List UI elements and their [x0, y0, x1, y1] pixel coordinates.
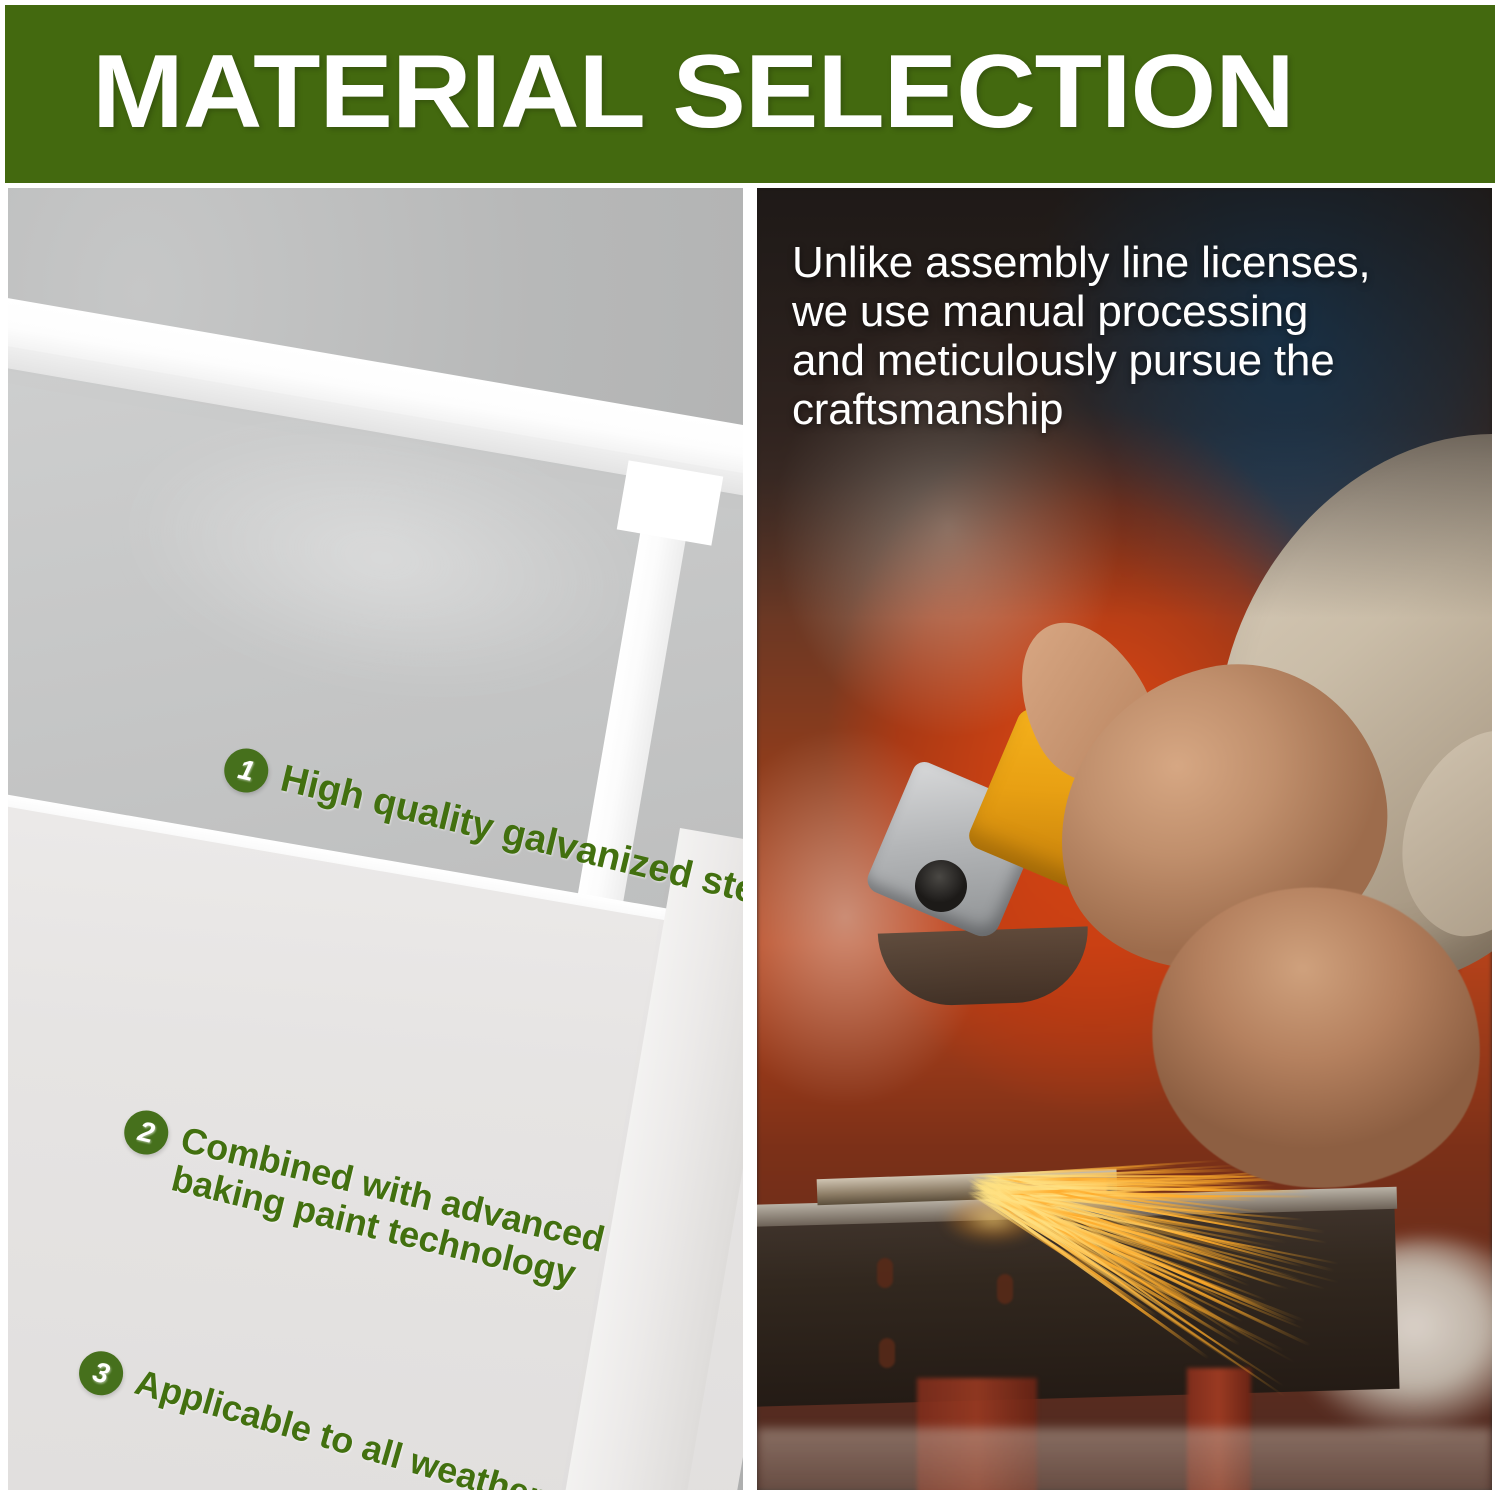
infographic-canvas: MATERIAL SELECTION 1 High quality galvan…: [0, 0, 1500, 1498]
caption-line-2: we use manual processing: [792, 287, 1392, 336]
feature-number-badge-2: 2: [120, 1106, 173, 1159]
bench-hole: [877, 1258, 893, 1288]
content-area: 1 High quality galvanized steel 2 Combin…: [0, 183, 1500, 1498]
workshop-caption: Unlike assembly line licenses, we use ma…: [792, 238, 1392, 434]
caption-line-1: Unlike assembly line licenses,: [792, 238, 1392, 287]
left-product-panel: 1 High quality galvanized steel 2 Combin…: [8, 188, 743, 1490]
workbench-slab: [757, 1199, 1400, 1407]
spark-origin-glow: [937, 1184, 1077, 1254]
caption-line-4: craftsmanship: [792, 385, 1392, 434]
header-banner: MATERIAL SELECTION: [0, 0, 1500, 183]
caption-line-3: and meticulously pursue the: [792, 336, 1392, 385]
page-title: MATERIAL SELECTION: [92, 40, 1294, 144]
bench-hole: [997, 1274, 1013, 1304]
right-workshop-panel: Unlike assembly line licenses, we use ma…: [757, 188, 1492, 1490]
workshop-floor: [757, 1428, 1492, 1490]
bench-hole: [879, 1338, 895, 1368]
